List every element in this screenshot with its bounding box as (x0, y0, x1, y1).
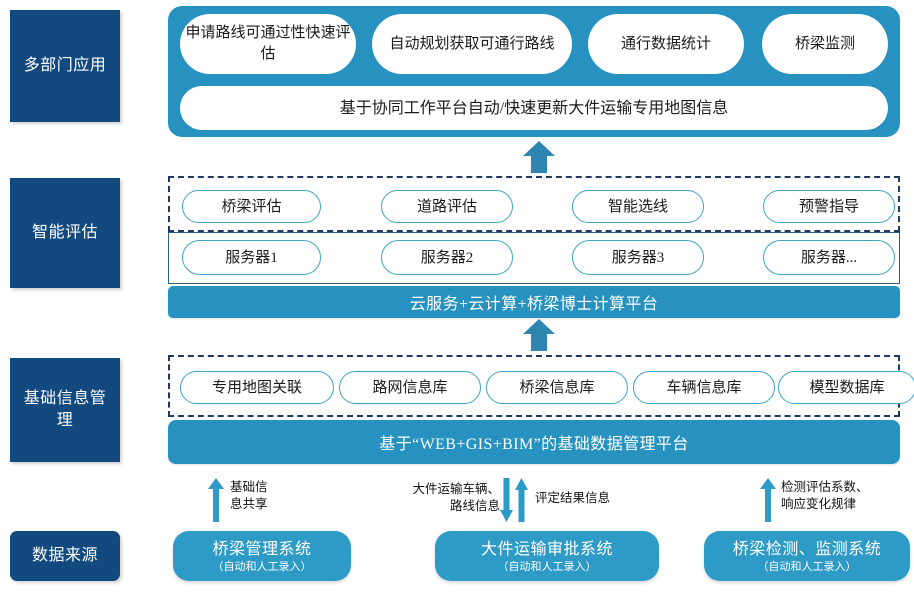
stage-label-text: 多部门应用 (24, 55, 107, 77)
database-label: 模型数据库 (809, 378, 884, 398)
basic-data-platform-label: 基于“WEB+GIS+BIM”的基础数据管理平台 (379, 430, 688, 454)
assessment-module-route-selection[interactable]: 智能选线 (572, 190, 704, 223)
stage-label-text: 数据来源 (32, 545, 98, 567)
stage-label-basic-information-management: 基础信息管理 (10, 358, 120, 462)
stage-label-multi-department-application: 多部门应用 (10, 10, 120, 122)
app-tile-route-assessment[interactable]: 申请路线可通过性快速评估 (180, 14, 356, 74)
assessment-server-more[interactable]: 服务器... (763, 240, 895, 275)
flow-arrow-basic-info-sharing-up (208, 478, 224, 522)
assessment-module-road[interactable]: 道路评估 (381, 190, 513, 223)
cloud-computing-platform-bar[interactable]: 云服务+云计算+桥梁博士计算平台 (168, 286, 900, 318)
data-source-heavy-transport-approval[interactable]: 大件运输审批系统 （自动和人工录入） (435, 531, 659, 581)
assessment-server-1[interactable]: 服务器1 (182, 240, 321, 275)
database-label: 桥梁信息库 (519, 378, 594, 398)
flow-arrow-detection-coefficients-up (760, 478, 776, 522)
flow-arrow-vehicle-route-info-down (500, 478, 513, 522)
app-tile-traffic-statistics[interactable]: 通行数据统计 (588, 14, 744, 74)
flow-label-basic-info-sharing: 基础信 息共享 (230, 478, 320, 512)
flow-arrow-assessment-to-application (522, 140, 556, 174)
stage-label-text: 智能评估 (32, 222, 98, 244)
data-source-subtitle: （自动和人工录入） (758, 559, 857, 574)
application-layer-banner-label: 基于协同工作平台自动/快速更新大件运输专用地图信息 (340, 98, 728, 119)
assessment-module-bridge[interactable]: 桥梁评估 (182, 190, 321, 223)
assessment-server-label: 服务器2 (421, 248, 474, 268)
database-label: 路网信息库 (372, 378, 447, 398)
assessment-module-early-warning[interactable]: 预警指导 (763, 190, 895, 223)
data-source-title: 桥梁检测、监测系统 (733, 539, 882, 559)
app-tile-route-planning[interactable]: 自动规划获取可通行路线 (372, 14, 572, 74)
data-source-title: 桥梁管理系统 (212, 539, 311, 559)
stage-label-intelligent-assessment: 智能评估 (10, 178, 120, 288)
assessment-module-label: 桥梁评估 (221, 197, 281, 217)
app-tile-label: 申请路线可通过性快速评估 (180, 23, 356, 65)
database-label: 专用地图关联 (212, 378, 302, 398)
application-layer-banner[interactable]: 基于协同工作平台自动/快速更新大件运输专用地图信息 (180, 86, 888, 130)
cloud-computing-platform-label: 云服务+云计算+桥梁博士计算平台 (410, 290, 658, 314)
assessment-module-label: 道路评估 (417, 197, 477, 217)
stage-label-text: 基础信息管理 (18, 388, 112, 432)
data-source-subtitle: （自动和人工录入） (498, 559, 597, 574)
database-label: 车辆信息库 (666, 378, 741, 398)
data-source-bridge-inspection[interactable]: 桥梁检测、监测系统 （自动和人工录入） (704, 531, 910, 581)
assessment-server-label: 服务器... (801, 248, 857, 268)
assessment-server-2[interactable]: 服务器2 (381, 240, 513, 275)
database-bridge[interactable]: 桥梁信息库 (486, 371, 628, 404)
flow-arrow-assessment-result-up (515, 478, 528, 522)
flow-label-assessment-result: 评定结果信息 (535, 489, 665, 506)
assessment-module-label: 智能选线 (608, 197, 668, 217)
basic-data-platform-bar[interactable]: 基于“WEB+GIS+BIM”的基础数据管理平台 (168, 420, 900, 464)
flow-label-vehicle-route-info: 大件运输车辆、 路线信息 (378, 480, 500, 514)
data-source-bridge-management[interactable]: 桥梁管理系统 （自动和人工录入） (173, 531, 351, 581)
app-tile-label: 自动规划获取可通行路线 (389, 34, 554, 55)
app-tile-bridge-monitoring[interactable]: 桥梁监测 (762, 14, 888, 74)
assessment-server-3[interactable]: 服务器3 (572, 240, 704, 275)
app-tile-label: 通行数据统计 (621, 34, 711, 55)
flow-arrow-basic-to-assessment (522, 318, 556, 352)
assessment-server-label: 服务器3 (612, 248, 665, 268)
app-tile-label: 桥梁监测 (795, 34, 855, 55)
database-model[interactable]: 模型数据库 (778, 371, 914, 404)
data-source-title: 大件运输审批系统 (481, 539, 613, 559)
flow-label-detection-coefficients: 检测评估系数、 响应变化规律 (781, 478, 914, 512)
data-source-subtitle: （自动和人工录入） (213, 559, 312, 574)
assessment-server-label: 服务器1 (225, 248, 278, 268)
database-road-network[interactable]: 路网信息库 (339, 371, 481, 404)
database-vehicle[interactable]: 车辆信息库 (633, 371, 775, 404)
database-dedicated-map[interactable]: 专用地图关联 (180, 371, 334, 404)
stage-label-data-source: 数据来源 (10, 531, 120, 581)
assessment-module-label: 预警指导 (799, 197, 859, 217)
